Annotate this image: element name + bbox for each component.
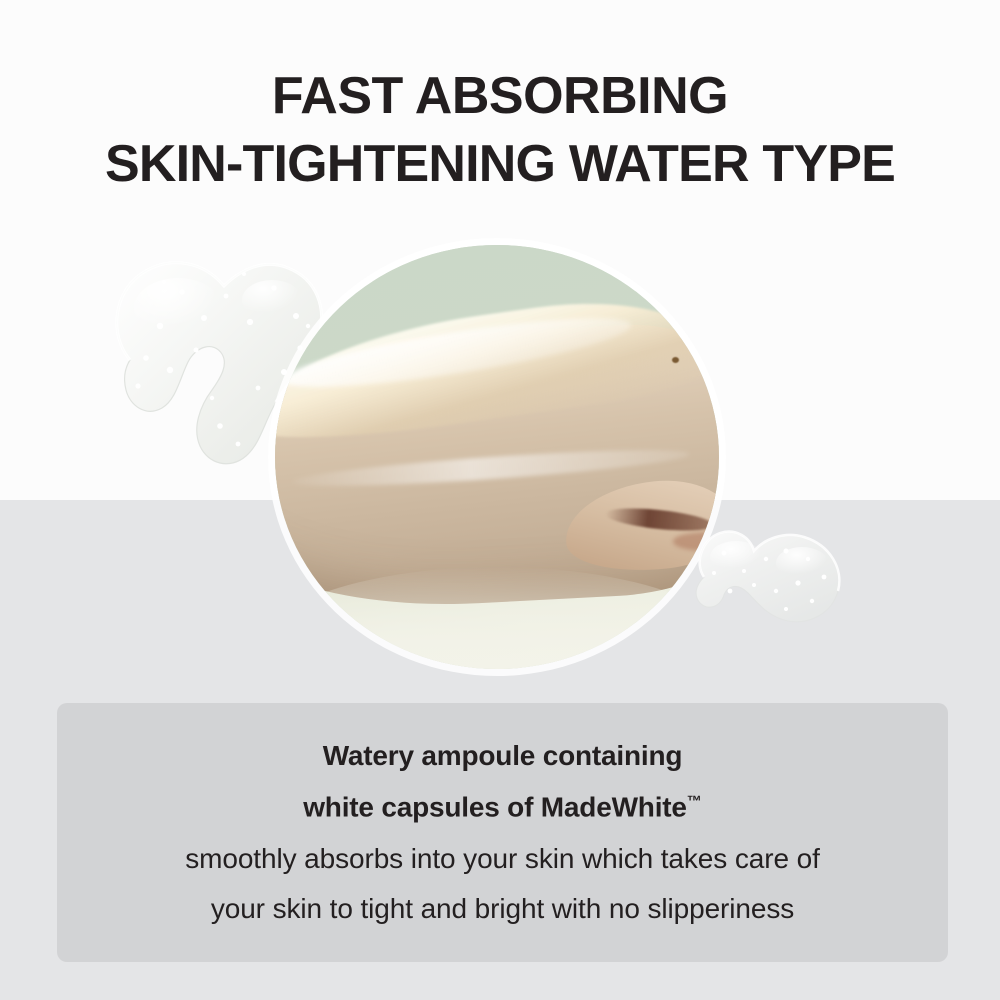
copy-light-line-1: smoothly absorbs into your skin which ta… <box>57 834 948 884</box>
headline: FAST ABSORBING SKIN-TIGHTENING WATER TYP… <box>0 62 1000 198</box>
gel-swatch-right-icon <box>690 515 860 635</box>
hero-composition <box>0 230 1000 690</box>
copy-panel: Watery ampoule containing white capsules… <box>57 703 948 962</box>
copy-bold-line-2-text: white capsules of MadeWhite <box>303 791 687 822</box>
copy-bold-block: Watery ampoule containing white capsules… <box>57 703 948 830</box>
headline-line-2: SKIN-TIGHTENING WATER TYPE <box>0 130 1000 198</box>
product-detail-page: FAST ABSORBING SKIN-TIGHTENING WATER TYP… <box>0 0 1000 1000</box>
copy-bold-line-2: white capsules of MadeWhite™ <box>57 779 948 830</box>
copy-light-line-2: your skin to tight and bright with no sl… <box>57 884 948 934</box>
copy-light-block: smoothly absorbs into your skin which ta… <box>57 830 948 934</box>
headline-line-1: FAST ABSORBING <box>0 62 1000 130</box>
skin-mole <box>672 357 679 363</box>
copy-bold-line-1: Watery ampoule containing <box>57 733 948 779</box>
trademark-symbol: ™ <box>687 793 702 810</box>
product-photo-circle <box>275 245 719 669</box>
